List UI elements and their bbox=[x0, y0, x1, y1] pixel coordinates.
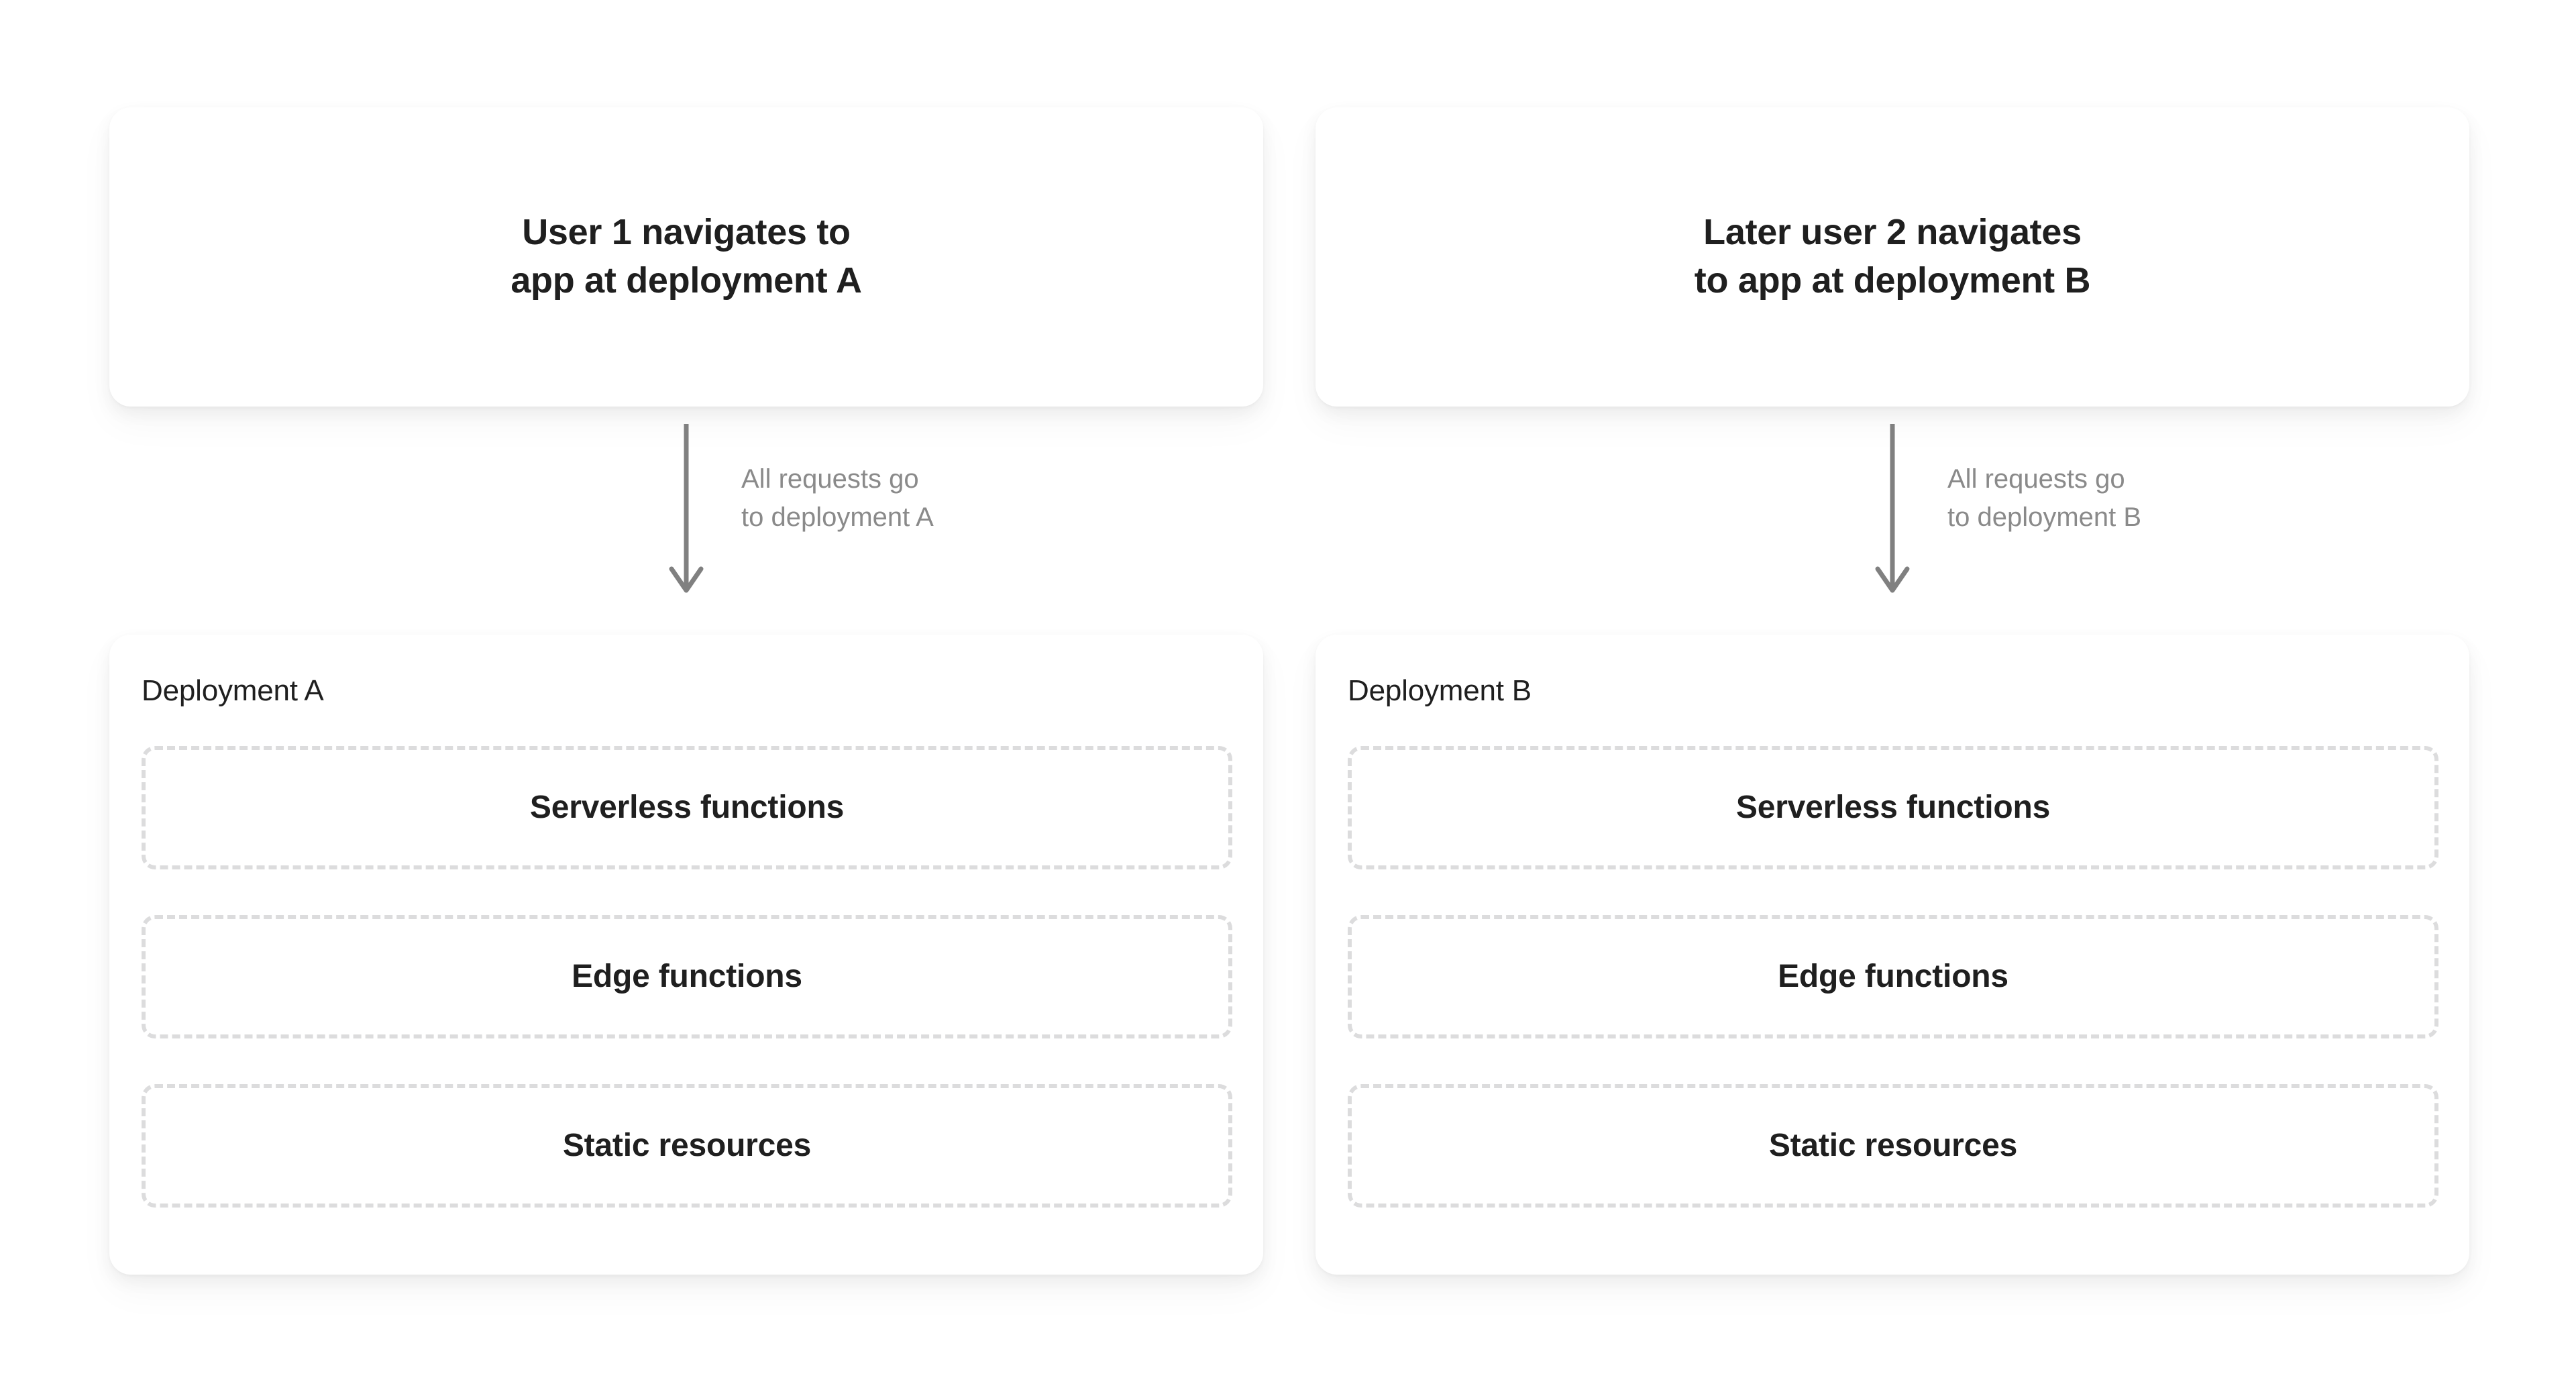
diagram-canvas: User 1 navigates to app at deployment A … bbox=[0, 0, 2576, 1390]
connector-a: All requests go to deployment A bbox=[109, 407, 1263, 635]
deployment-a-resource-list: Serverless functions Edge functions Stat… bbox=[142, 746, 1232, 1208]
resource-label-static-a: Static resources bbox=[563, 1130, 811, 1162]
diagram-column-b: Later user 2 navigates to app at deploym… bbox=[1316, 107, 2469, 1275]
resource-label-edge-a: Edge functions bbox=[572, 961, 802, 993]
resource-box-serverless-a: Serverless functions bbox=[142, 746, 1232, 869]
user-card-b-title: Later user 2 navigates to app at deploym… bbox=[1695, 209, 2090, 305]
resource-box-serverless-b: Serverless functions bbox=[1348, 746, 2438, 869]
resource-label-static-b: Static resources bbox=[1769, 1130, 2017, 1162]
resource-label-serverless-b: Serverless functions bbox=[1736, 792, 2050, 824]
user-card-a: User 1 navigates to app at deployment A bbox=[109, 107, 1263, 407]
resource-label-serverless-a: Serverless functions bbox=[530, 792, 844, 824]
resource-box-edge-b: Edge functions bbox=[1348, 915, 2438, 1038]
user-card-b: Later user 2 navigates to app at deploym… bbox=[1316, 107, 2469, 407]
deployment-a-title: Deployment A bbox=[142, 676, 1232, 706]
diagram-column-a: User 1 navigates to app at deployment A … bbox=[109, 107, 1263, 1275]
deployment-b-resource-list: Serverless functions Edge functions Stat… bbox=[1348, 746, 2438, 1208]
diagram-columns: User 1 navigates to app at deployment A … bbox=[109, 107, 2469, 1275]
deployment-b-title: Deployment B bbox=[1348, 676, 2438, 706]
connector-b: All requests go to deployment B bbox=[1316, 407, 2469, 635]
deployment-card-b: Deployment B Serverless functions Edge f… bbox=[1316, 635, 2469, 1275]
resource-label-edge-b: Edge functions bbox=[1778, 961, 2008, 993]
resource-box-static-a: Static resources bbox=[142, 1084, 1232, 1208]
connector-b-label: All requests go to deployment B bbox=[1947, 460, 2141, 537]
down-arrow-icon bbox=[666, 423, 706, 602]
resource-box-edge-a: Edge functions bbox=[142, 915, 1232, 1038]
resource-box-static-b: Static resources bbox=[1348, 1084, 2438, 1208]
deployment-card-a: Deployment A Serverless functions Edge f… bbox=[109, 635, 1263, 1275]
user-card-a-title: User 1 navigates to app at deployment A bbox=[511, 209, 861, 305]
connector-a-label: All requests go to deployment A bbox=[741, 460, 934, 537]
down-arrow-icon bbox=[1872, 423, 1913, 602]
